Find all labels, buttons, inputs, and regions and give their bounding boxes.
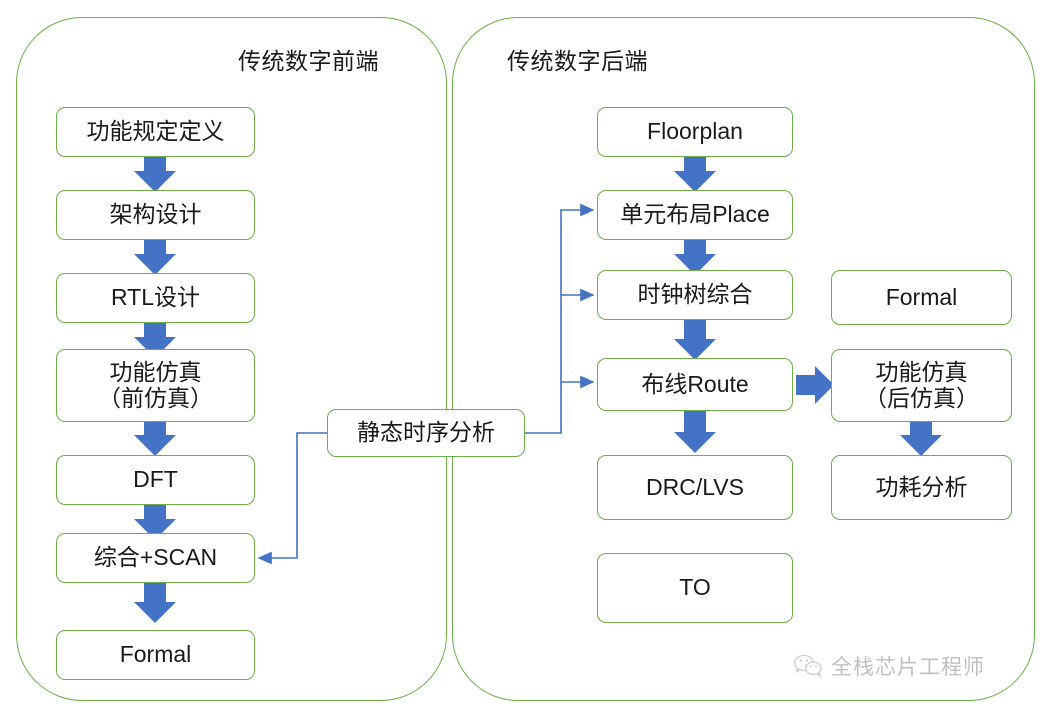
node-synth-scan[interactable]: 综合+SCAN	[56, 533, 255, 583]
arrow-cts-to-route	[674, 318, 716, 360]
wechat-icon	[793, 654, 823, 678]
node-floorplan[interactable]: Floorplan	[597, 107, 793, 157]
node-cts[interactable]: 时钟树综合	[597, 270, 793, 320]
watermark: 全栈芯片工程师	[793, 651, 985, 681]
node-drc-lvs[interactable]: DRC/LVS	[597, 455, 793, 520]
arrow-head	[674, 432, 716, 453]
node-dft[interactable]: DFT	[56, 455, 255, 505]
watermark-text: 全栈芯片工程师	[831, 651, 985, 681]
node-formal-frontend[interactable]: Formal	[56, 630, 255, 680]
node-route[interactable]: 布线Route	[597, 358, 793, 411]
arrow-route-to-postsim	[796, 366, 834, 404]
arrow-shaft	[684, 318, 706, 339]
node-func-spec[interactable]: 功能规定定义	[56, 107, 255, 157]
arrow-shaft	[144, 581, 166, 602]
node-rtl-design[interactable]: RTL设计	[56, 273, 255, 323]
arrow-route-to-drclvs	[674, 411, 716, 453]
panel-backend-title: 传统数字后端	[507, 42, 648, 76]
node-formal-backend[interactable]: Formal	[831, 270, 1012, 325]
arrow-head	[674, 339, 716, 360]
node-post-sim[interactable]: 功能仿真 （后仿真）	[831, 349, 1012, 422]
node-static-timing-analysis[interactable]: 静态时序分析	[327, 409, 525, 457]
arrow-head	[134, 435, 176, 456]
arrow-head	[134, 602, 176, 623]
arrow-shaft	[684, 411, 706, 432]
arrow-head	[134, 254, 176, 275]
arrow-head	[674, 171, 716, 192]
arrow-synth-to-formal	[134, 581, 176, 623]
arrow-head	[900, 435, 942, 456]
diagram-canvas: 传统数字前端 传统数字后端	[0, 0, 1060, 714]
node-power-analysis[interactable]: 功耗分析	[831, 455, 1012, 520]
node-to[interactable]: TO	[597, 553, 793, 623]
node-pre-sim[interactable]: 功能仿真 （前仿真）	[56, 349, 255, 422]
node-arch-design[interactable]: 架构设计	[56, 190, 255, 240]
arrow-head	[134, 171, 176, 192]
panel-frontend-title: 传统数字前端	[238, 42, 379, 76]
node-place[interactable]: 单元布局Place	[597, 190, 793, 240]
